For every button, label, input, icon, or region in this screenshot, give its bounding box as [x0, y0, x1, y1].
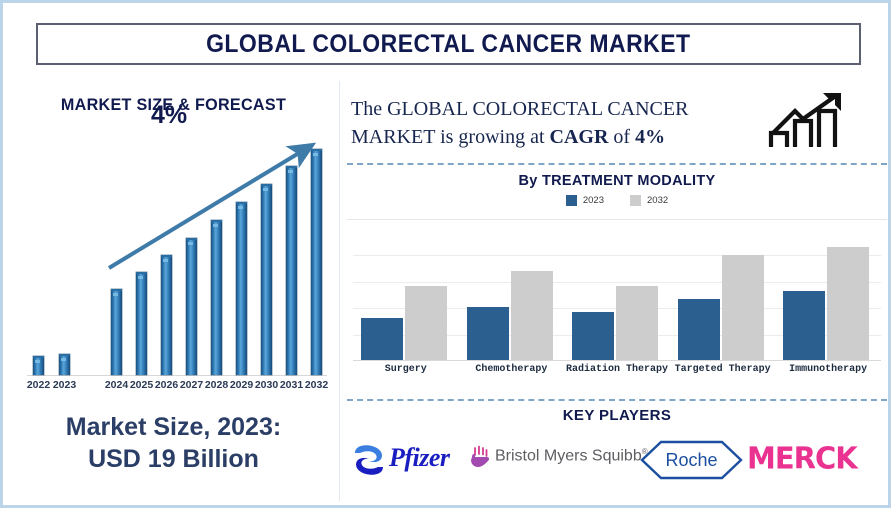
modality-category-label: Chemotherapy	[452, 363, 570, 376]
forecast-year-label: 2023	[50, 379, 80, 391]
legend-item[interactable]: 2023	[566, 195, 604, 206]
modality-bar	[405, 286, 447, 360]
left-chart-year-labels: 2022202320242025202620272028202920302031…	[11, 379, 336, 395]
bms-wordmark: Bristol Myers Squibb®	[495, 447, 648, 465]
forecast-bar	[311, 149, 322, 375]
divider-dashed-bottom	[347, 399, 887, 401]
left-chart-baseline	[27, 375, 327, 376]
modality-bar	[572, 312, 614, 360]
market-size-forecast-chart	[11, 131, 336, 376]
cagr-statement-bold-cagr: CAGR	[550, 126, 609, 148]
pfizer-mark-icon	[351, 443, 387, 477]
modality-bar	[511, 271, 553, 360]
modality-category-label: Radiation Therapy	[558, 363, 676, 376]
modality-bar	[783, 291, 825, 360]
roche-wordmark: Roche	[639, 439, 744, 481]
modality-bar	[678, 299, 720, 360]
bms-hand-mark-icon	[469, 445, 491, 471]
legend-item[interactable]: 2032	[630, 195, 668, 206]
forecast-bar	[111, 289, 122, 375]
key-players-logos: Pfizer Bristol Myers Squibb® Roche	[347, 433, 887, 493]
forecast-bar	[286, 166, 297, 375]
logo-bristol-myers-squibb: Bristol Myers Squibb®	[469, 445, 654, 475]
key-players-heading: KEY PLAYERS	[347, 407, 887, 424]
modality-bar	[467, 307, 509, 360]
legend-label: 2023	[583, 195, 604, 206]
forecast-bar	[136, 272, 147, 375]
treatment-modality-heading: By TREATMENT MODALITY	[347, 173, 887, 189]
modality-category-label: Targeted Therapy	[664, 363, 782, 376]
forecast-bar	[236, 202, 247, 375]
logo-roche: Roche	[639, 439, 744, 481]
title-box: GLOBAL COLORECTAL CANCER MARKET	[36, 23, 861, 65]
modality-bar	[827, 247, 869, 360]
forecast-bar	[211, 220, 222, 375]
modality-bar	[616, 286, 658, 360]
modality-category-label: Surgery	[347, 363, 465, 376]
cagr-statement-bold-value: 4%	[635, 126, 665, 148]
market-size-callout: Market Size, 2023: USD 19 Billion	[11, 411, 336, 475]
treatment-modality-chart	[353, 229, 881, 361]
divider-dashed-top	[347, 163, 887, 165]
chart-top-rule	[347, 219, 887, 220]
page-title: GLOBAL COLORECTAL CANCER MARKET	[206, 30, 690, 59]
forecast-bar	[186, 238, 197, 375]
cagr-statement: The GLOBAL COLORECTAL CANCER MARKET is g…	[351, 95, 711, 151]
cagr-annotation-left: 4%	[151, 101, 187, 130]
modality-category-label: Immunotherapy	[769, 363, 887, 376]
legend-label: 2032	[647, 195, 668, 206]
forecast-bar	[261, 184, 272, 375]
left-panel: MARKET SIZE & FORECAST 4% 20222023202420…	[11, 81, 336, 501]
forecast-year-label: 2032	[302, 379, 332, 391]
merck-wordmark: MERCK	[747, 440, 857, 476]
treatment-modality-legend: 20232032	[347, 195, 887, 206]
grid-line	[353, 255, 881, 256]
forecast-bar	[33, 356, 44, 375]
grouped-chart-axis	[353, 360, 881, 361]
infographic-page: GLOBAL COLORECTAL CANCER MARKET MARKET S…	[0, 0, 891, 508]
market-size-line-2: USD 19 Billion	[11, 443, 336, 475]
growth-bar-chart-arrow-icon	[765, 89, 851, 153]
panel-divider	[339, 81, 340, 501]
modality-bar	[361, 318, 403, 360]
cagr-statement-mid: of	[608, 126, 635, 148]
forecast-bar	[161, 255, 172, 375]
market-size-line-1: Market Size, 2023:	[11, 411, 336, 443]
legend-swatch-icon	[630, 195, 641, 206]
forecast-bar	[59, 354, 70, 375]
treatment-modality-category-labels: SurgeryChemotherapyRadiation TherapyTarg…	[353, 363, 881, 397]
right-panel: The GLOBAL COLORECTAL CANCER MARKET is g…	[347, 81, 887, 501]
logo-pfizer: Pfizer	[351, 439, 461, 479]
pfizer-wordmark: Pfizer	[389, 443, 450, 473]
modality-bar	[722, 255, 764, 360]
bms-wordmark-text: Bristol Myers Squibb	[495, 447, 642, 464]
grid-line	[353, 282, 881, 283]
logo-merck: MERCK	[747, 441, 887, 479]
legend-swatch-icon	[566, 195, 577, 206]
